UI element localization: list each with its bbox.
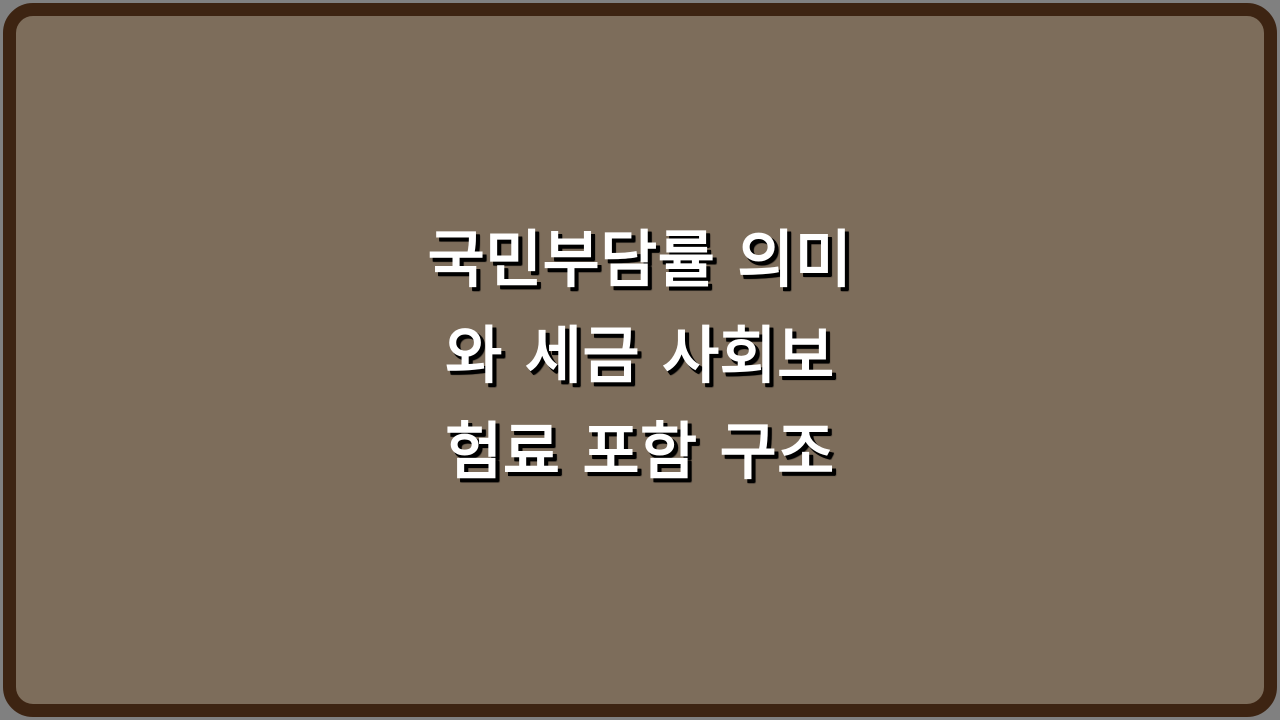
title-block: 국민부담률 의미 와 세금 사회보 험료 포함 구조 bbox=[16, 212, 1264, 500]
slide-canvas: 국민부담률 의미 와 세금 사회보 험료 포함 구조 bbox=[0, 0, 1280, 720]
title-card: 국민부담률 의미 와 세금 사회보 험료 포함 구조 bbox=[3, 3, 1277, 717]
title-line-3: 험료 포함 구조 bbox=[56, 404, 1224, 500]
title-line-1: 국민부담률 의미 bbox=[56, 212, 1224, 308]
title-line-2: 와 세금 사회보 bbox=[56, 308, 1224, 404]
